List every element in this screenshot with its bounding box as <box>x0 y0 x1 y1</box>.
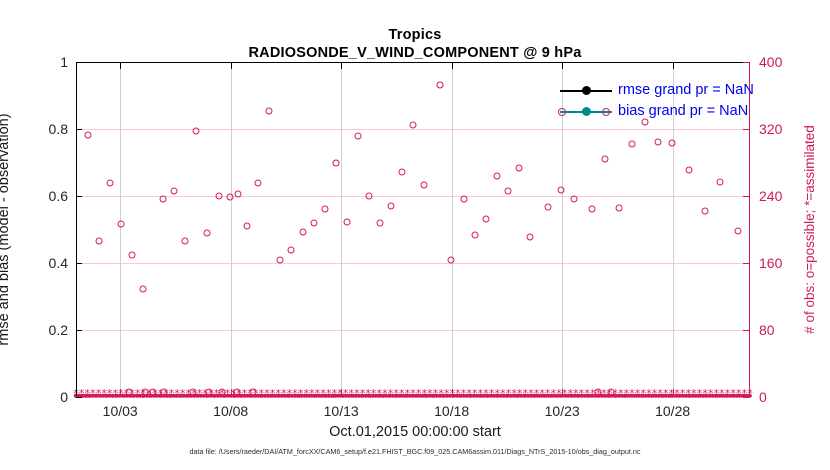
legend-ring-icon <box>602 108 610 116</box>
gridline-horizontal <box>76 263 750 264</box>
tick-mark-x-top <box>673 62 674 69</box>
obs-possible-marker <box>558 187 565 194</box>
tick-mark-y-left <box>76 330 82 331</box>
obs-possible-marker <box>226 193 233 200</box>
obs-possible-marker <box>588 205 595 212</box>
zero-band-ring-marker <box>607 389 614 396</box>
tick-mark-y-left <box>76 263 82 264</box>
obs-possible-marker <box>365 193 372 200</box>
obs-possible-marker <box>310 219 317 226</box>
tick-mark-x-top <box>120 62 121 69</box>
obs-possible-marker <box>615 204 622 211</box>
gridline-vertical <box>452 62 453 397</box>
legend-label: bias grand pr = NaN <box>618 101 748 122</box>
zero-band-ring-marker <box>141 389 148 396</box>
x-axis-tick-label: 10/08 <box>196 403 266 419</box>
obs-possible-marker <box>410 121 417 128</box>
obs-possible-marker <box>244 223 251 230</box>
obs-possible-marker <box>321 205 328 212</box>
obs-possible-marker <box>107 179 114 186</box>
obs-possible-marker <box>235 191 242 198</box>
gridline-horizontal <box>76 196 750 197</box>
x-axis-tick-label: 10/03 <box>85 403 155 419</box>
tick-mark-y-right <box>743 129 749 130</box>
data-file-footer: data file: /Users/raeder/DAI/ATM_forcXX/… <box>0 447 830 456</box>
figure-canvas: Tropics RADIOSONDE_V_WIND_COMPONENT @ 9 … <box>0 0 830 470</box>
obs-possible-marker <box>505 187 512 194</box>
obs-possible-marker <box>734 228 741 235</box>
obs-possible-marker <box>436 81 443 88</box>
x-axis-tick-label: 10/28 <box>638 403 708 419</box>
tick-mark-x <box>673 389 674 396</box>
obs-possible-marker <box>140 285 147 292</box>
obs-possible-marker <box>460 196 467 203</box>
tick-mark-x <box>120 389 121 396</box>
zero-band-ring-marker <box>249 389 256 396</box>
obs-possible-marker <box>628 141 635 148</box>
x-axis-tick-label: 10/13 <box>306 403 376 419</box>
axis-spine-bottom <box>76 396 750 397</box>
y-axis-right-tick-label: 0 <box>759 389 803 405</box>
obs-possible-marker <box>447 256 454 263</box>
zero-band-ring-marker <box>234 389 241 396</box>
obs-possible-marker <box>85 131 92 138</box>
legend-ring-icon <box>558 108 566 116</box>
obs-possible-marker <box>193 127 200 134</box>
y-axis-right-label: # of obs: o=possible; *=assimilated <box>800 62 820 397</box>
zero-band-ring-marker <box>150 389 157 396</box>
obs-possible-marker <box>686 167 693 174</box>
y-axis-left-tick-label: 0 <box>28 389 68 405</box>
zero-band-ring-marker <box>190 389 197 396</box>
legend-marker-icon <box>582 107 591 116</box>
obs-possible-marker <box>171 187 178 194</box>
obs-possible-marker <box>398 168 405 175</box>
y-axis-left-tick-label: 0.2 <box>28 322 68 338</box>
y-axis-right-tick-label: 320 <box>759 121 803 137</box>
obs-possible-marker <box>118 221 125 228</box>
tick-mark-y-left <box>76 129 82 130</box>
obs-possible-marker <box>332 159 339 166</box>
obs-possible-marker <box>516 165 523 172</box>
zero-band-ring-marker <box>161 389 168 396</box>
tick-mark-x-top <box>231 62 232 69</box>
tick-mark-y-left <box>76 196 82 197</box>
chart-title: Tropics <box>0 27 830 43</box>
zero-band-ring-marker <box>594 389 601 396</box>
obs-possible-marker <box>544 203 551 210</box>
obs-possible-marker <box>266 107 273 114</box>
gridline-horizontal <box>76 330 750 331</box>
zero-band-ring-marker <box>126 389 133 396</box>
obs-possible-marker <box>602 156 609 163</box>
x-axis-tick-label: 10/18 <box>417 403 487 419</box>
obs-possible-marker <box>471 231 478 238</box>
chart-subtitle: RADIOSONDE_V_WIND_COMPONENT @ 9 hPa <box>0 45 830 61</box>
x-axis-tick-label: 10/23 <box>527 403 597 419</box>
obs-possible-marker <box>387 203 394 210</box>
y-axis-right-tick-label: 80 <box>759 322 803 338</box>
tick-mark-x <box>562 389 563 396</box>
x-axis-label: Oct.01,2015 00:00:00 start <box>0 424 830 440</box>
obs-possible-marker <box>571 196 578 203</box>
obs-possible-marker <box>717 178 724 185</box>
obs-possible-marker <box>182 238 189 245</box>
obs-possible-marker <box>482 215 489 222</box>
zero-band-ring-marker <box>218 389 225 396</box>
obs-possible-marker <box>255 179 262 186</box>
obs-possible-marker <box>421 182 428 189</box>
tick-mark-x-top <box>562 62 563 69</box>
tick-mark-x <box>341 389 342 396</box>
tick-mark-x-top <box>341 62 342 69</box>
axis-spine-top <box>76 62 750 63</box>
obs-possible-marker <box>354 132 361 139</box>
tick-mark-y-right <box>743 330 749 331</box>
tick-mark-y-right <box>743 263 749 264</box>
obs-possible-marker <box>376 219 383 226</box>
obs-possible-marker <box>527 234 534 241</box>
obs-possible-marker <box>299 229 306 236</box>
gridline-vertical <box>120 62 121 397</box>
obs-possible-marker <box>668 140 675 147</box>
obs-possible-marker <box>288 246 295 253</box>
y-axis-left-tick-label: 0.6 <box>28 188 68 204</box>
y-axis-left-tick-label: 1 <box>28 54 68 70</box>
obs-possible-marker <box>215 193 222 200</box>
gridline-vertical <box>231 62 232 397</box>
zero-band-ring-marker <box>205 389 212 396</box>
gridline-vertical <box>341 62 342 397</box>
tick-mark-x <box>231 389 232 396</box>
tick-mark-y-left <box>76 62 82 63</box>
obs-possible-marker <box>277 257 284 264</box>
tick-mark-y-right <box>743 196 749 197</box>
obs-possible-marker <box>160 196 167 203</box>
obs-possible-marker <box>129 251 136 258</box>
tick-mark-y-right <box>743 397 749 398</box>
legend-marker-icon <box>582 86 591 95</box>
axis-spine-right <box>749 62 750 397</box>
y-axis-left-tick-label: 0.8 <box>28 121 68 137</box>
tick-mark-x-top <box>452 62 453 69</box>
obs-possible-marker <box>493 172 500 179</box>
y-axis-right-tick-label: 160 <box>759 255 803 271</box>
obs-possible-marker <box>96 238 103 245</box>
tick-mark-y-right <box>743 62 749 63</box>
obs-possible-marker <box>204 229 211 236</box>
obs-possible-marker <box>343 218 350 225</box>
obs-possible-marker <box>655 138 662 145</box>
gridline-horizontal <box>76 129 750 130</box>
y-axis-left-tick-label: 0.4 <box>28 255 68 271</box>
tick-mark-x <box>452 389 453 396</box>
axis-spine-left <box>76 62 77 397</box>
legend-label: rmse grand pr = NaN <box>618 80 754 101</box>
tick-mark-y-left <box>76 397 82 398</box>
y-axis-left-label: rmse and bias (model - observation) <box>0 62 14 397</box>
y-axis-right-tick-label: 240 <box>759 188 803 204</box>
obs-possible-marker <box>701 208 708 215</box>
y-axis-right-tick-label: 400 <box>759 54 803 70</box>
